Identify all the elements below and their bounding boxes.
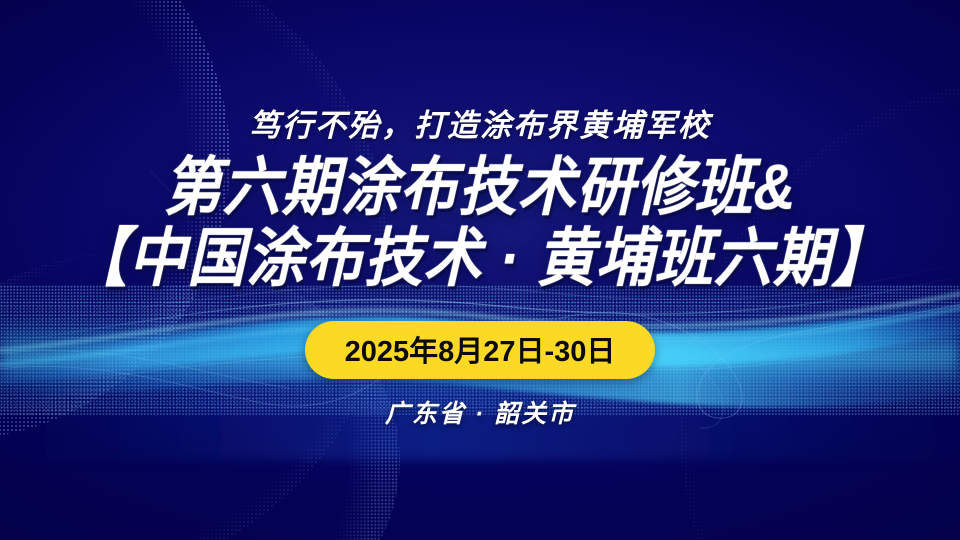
event-date-badge: 2025年8月27日-30日 (305, 321, 656, 379)
event-banner: 笃行不殆，打造涂布界黄埔军校 第六期涂布技术研修班& 【中国涂布技术 · 黄埔班… (0, 0, 960, 540)
banner-title-line-2: 【中国涂布技术 · 黄埔班六期】 (69, 226, 891, 291)
banner-title: 第六期涂布技术研修班& 【中国涂布技术 · 黄埔班六期】 (69, 161, 891, 291)
banner-title-line-1: 第六期涂布技术研修班& (69, 155, 891, 220)
banner-content: 笃行不殆，打造涂布界黄埔军校 第六期涂布技术研修班& 【中国涂布技术 · 黄埔班… (0, 0, 960, 540)
event-location: 广东省 · 韶关市 (385, 394, 575, 430)
banner-tagline: 笃行不殆，打造涂布界黄埔军校 (249, 100, 711, 145)
